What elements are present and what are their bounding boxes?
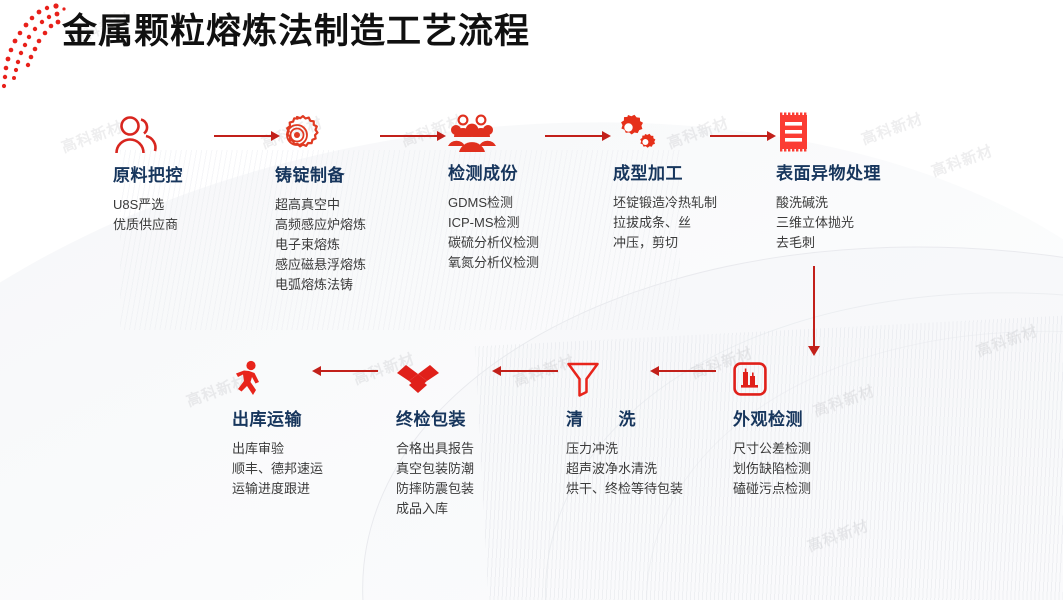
step-cleaning[interactable]: 清 洗 压力冲洗 超声波净水清洗 烘干、终检等待包装 — [566, 356, 741, 499]
step-line: 防摔防震包装 — [396, 479, 571, 499]
step-line: 高频感应炉熔炼 — [275, 215, 450, 235]
step-line: ICP-MS检测 — [448, 213, 623, 233]
arrow-4-right — [710, 130, 776, 142]
step-line: 电弧熔炼法铸 — [275, 275, 450, 295]
arrow-2-right — [380, 130, 446, 142]
step-outbound-transport[interactable]: 出库运输 出库审验 顺丰、德邦速运 运输进度跟进 — [232, 356, 407, 499]
step-line: 超声波净水清洗 — [566, 459, 686, 479]
step-line: 冲压，剪切 — [613, 233, 788, 253]
arrow-head — [602, 131, 611, 141]
step-line: 出库审验 — [232, 439, 407, 459]
page-title: 金属颗粒熔炼法制造工艺流程 — [62, 8, 530, 56]
arrow-3-right — [545, 130, 611, 142]
step-line: 碳硫分析仪检测 — [448, 233, 623, 253]
arrow-head — [808, 346, 820, 356]
arrow-shaft — [380, 135, 437, 137]
step-line: 尺寸公差检测 — [733, 439, 908, 459]
step-title: 检测成份 — [448, 162, 623, 186]
step-line: 划伤缺陷检测 — [733, 459, 908, 479]
arrow-shaft — [710, 135, 767, 137]
document-lines-icon — [776, 110, 951, 156]
step-description: 出库审验 顺丰、德邦速运 运输进度跟进 — [232, 439, 407, 499]
step-title: 原料把控 — [113, 164, 288, 188]
step-appearance-inspection[interactable]: 外观检测 尺寸公差检测 划伤缺陷检测 磕碰污点检测 — [733, 356, 908, 499]
step-line: 成品入库 — [396, 499, 571, 519]
watermark: 高科新材 — [804, 515, 871, 557]
step-line: 感应磁悬浮熔炼 — [275, 255, 450, 275]
step-title: 表面异物处理 — [776, 162, 951, 186]
step-title: 清 洗 — [566, 408, 741, 432]
arrow-shaft — [545, 135, 602, 137]
step-final-inspection-packaging[interactable]: 终检包装 合格出具报告 真空包装防潮 防摔防震包装 成品入库 — [396, 356, 571, 519]
step-line: 合格出具报告 — [396, 439, 571, 459]
step-line: 烘干、终检等待包装 — [566, 479, 686, 499]
watermark: 高科新材 — [973, 320, 1040, 362]
step-title: 铸锭制备 — [275, 164, 450, 188]
walking-person-icon — [232, 356, 407, 402]
step-line: 真空包装防潮 — [396, 459, 571, 479]
funnel-icon — [566, 356, 741, 402]
step-line: 优质供应商 — [113, 215, 288, 235]
step-description: GDMS检测 ICP-MS检测 碳硫分析仪检测 氧氮分析仪检测 — [448, 193, 623, 273]
step-line: 顺丰、德邦速运 — [232, 459, 407, 479]
step-description: 酸洗碱洗 三维立体抛光 去毛刺 — [776, 193, 951, 253]
step-line: 电子束熔炼 — [275, 235, 450, 255]
step-line: 酸洗碱洗 — [776, 193, 951, 213]
step-description: U8S严选 优质供应商 — [113, 195, 288, 235]
step-title: 终检包装 — [396, 408, 571, 432]
step-line: 氧氮分析仪检测 — [448, 253, 623, 273]
inspection-box-icon — [733, 356, 908, 402]
step-line: 拉拔成条、丝 — [613, 213, 788, 233]
step-line: 去毛刺 — [776, 233, 951, 253]
arrow-head — [437, 131, 446, 141]
step-line: GDMS检测 — [448, 193, 623, 213]
step-title: 出库运输 — [232, 408, 407, 432]
step-title: 外观检测 — [733, 408, 908, 432]
step-description: 压力冲洗 超声波净水清洗 烘干、终检等待包装 — [566, 439, 741, 499]
step-description: 合格出具报告 真空包装防潮 防摔防震包装 成品入库 — [396, 439, 571, 519]
step-title: 成型加工 — [613, 162, 788, 186]
arrow-head — [767, 131, 776, 141]
arrow-shaft — [214, 135, 271, 137]
step-line: 磕碰污点检测 — [733, 479, 908, 499]
arrow-shaft — [813, 266, 815, 346]
step-description: 坯锭锻造冷热轧制 拉拔成条、丝 冲压，剪切 — [613, 193, 788, 253]
step-line: 三维立体抛光 — [776, 213, 951, 233]
step-description: 尺寸公差检测 划伤缺陷检测 磕碰污点检测 — [733, 439, 908, 499]
step-surface-treatment[interactable]: 表面异物处理 酸洗碱洗 三维立体抛光 去毛刺 — [776, 110, 951, 253]
arrow-1-right — [214, 130, 280, 142]
step-line: U8S严选 — [113, 195, 288, 215]
open-box-icon — [396, 356, 571, 402]
step-line: 压力冲洗 — [566, 439, 686, 459]
step-description: 超高真空中 高频感应炉熔炼 电子束熔炼 感应磁悬浮熔炼 电弧熔炼法铸 — [275, 195, 450, 295]
step-line: 运输进度跟进 — [232, 479, 407, 499]
arrow-5-down — [808, 266, 820, 356]
step-line: 超高真空中 — [275, 195, 450, 215]
step-line: 坯锭锻造冷热轧制 — [613, 193, 788, 213]
